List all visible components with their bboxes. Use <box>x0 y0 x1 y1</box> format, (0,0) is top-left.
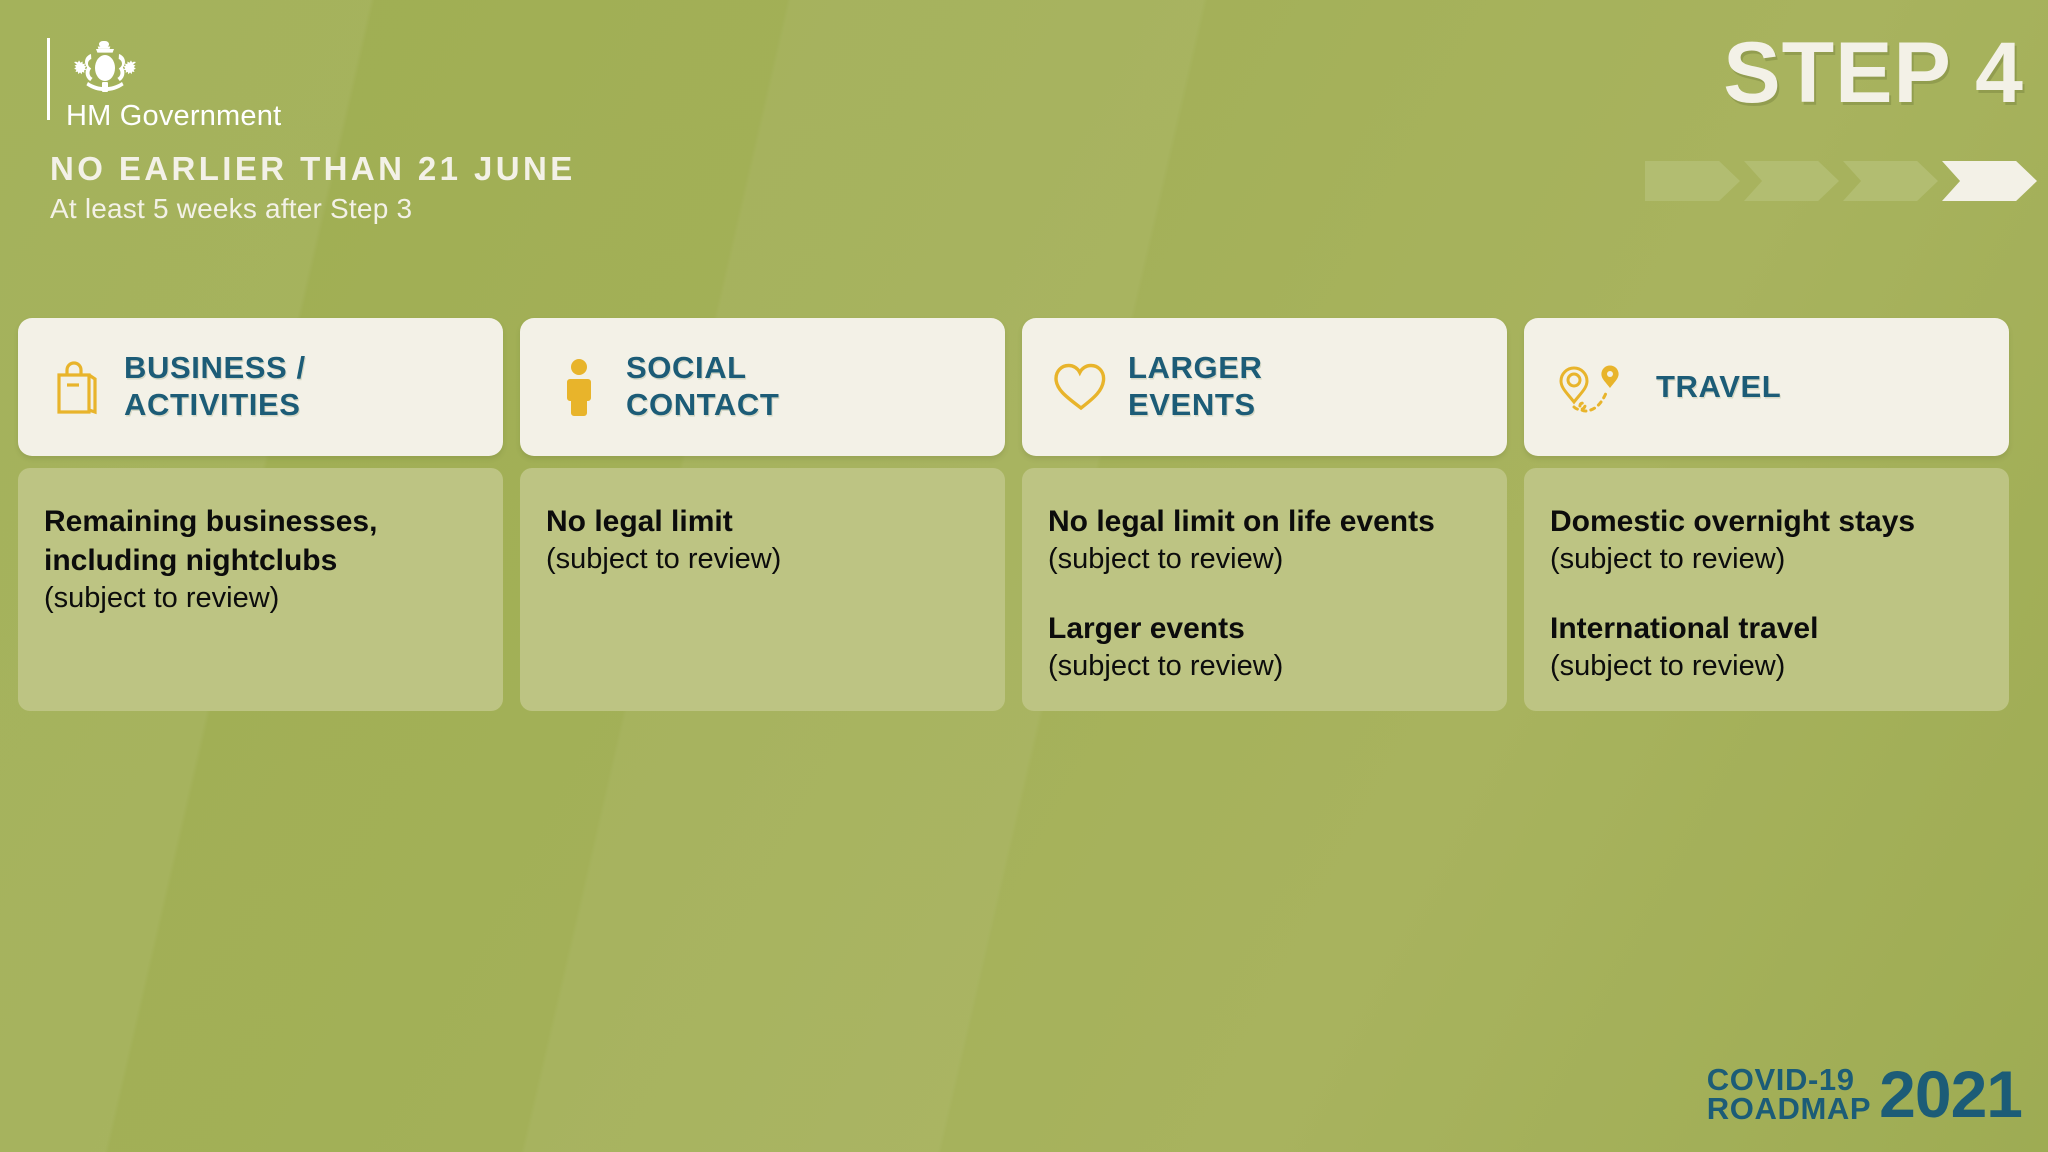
covid-label: COVID-19 <box>1707 1065 1855 1095</box>
column-body-social-contact: No legal limit (subject to review) <box>520 468 1005 711</box>
entry-title: Domestic overnight stays <box>1550 502 1983 541</box>
column-title-travel: TRAVEL <box>1656 369 1781 406</box>
column-title-line1: LARGER <box>1128 350 1263 387</box>
entry-note: (subject to review) <box>1048 541 1481 579</box>
entry-title: Remaining businesses, including nightclu… <box>44 502 477 580</box>
list-item: No legal limit on life events (subject t… <box>1048 502 1481 579</box>
list-item: Domestic overnight stays (subject to rev… <box>1550 502 1983 579</box>
chevron-step-2 <box>1744 161 1839 201</box>
column-header-social-contact: SOCIAL CONTACT <box>520 318 1005 456</box>
map-pins-route-icon <box>1550 357 1642 417</box>
list-item: Remaining businesses, including nightclu… <box>44 502 477 618</box>
entry-title: No legal limit on life events <box>1048 502 1481 541</box>
logo-divider-rule <box>47 38 50 120</box>
entry-title: No legal limit <box>546 502 979 541</box>
column-business-activities: BUSINESS / ACTIVITIES Remaining business… <box>18 318 503 711</box>
person-icon <box>546 358 612 416</box>
column-social-contact: SOCIAL CONTACT No legal limit (subject t… <box>520 318 1005 711</box>
column-larger-events: LARGER EVENTS No legal limit on life eve… <box>1022 318 1507 711</box>
date-subheading: At least 5 weeks after Step 3 <box>50 193 412 225</box>
entry-note: (subject to review) <box>546 541 979 579</box>
entry-note: (subject to review) <box>1048 648 1481 686</box>
column-title-line2: EVENTS <box>1128 387 1263 424</box>
chevron-step-1 <box>1645 161 1740 201</box>
step-badge: STEP 4 <box>1723 30 2024 116</box>
column-title-line2: CONTACT <box>626 387 779 424</box>
shopping-bag-icon <box>44 359 110 415</box>
column-title-line1: BUSINESS / <box>124 350 306 387</box>
hm-government-logo: HM Government <box>47 38 281 131</box>
column-title-social-contact: SOCIAL CONTACT <box>626 350 779 423</box>
roadmap-slide: HM Government NO EARLIER THAN 21 JUNE At… <box>0 0 2048 1152</box>
royal-coat-of-arms-icon <box>66 38 281 96</box>
column-header-larger-events: LARGER EVENTS <box>1022 318 1507 456</box>
entry-note: (subject to review) <box>44 580 477 618</box>
column-title-line2: ACTIVITIES <box>124 387 306 424</box>
date-heading: NO EARLIER THAN 21 JUNE <box>50 150 576 188</box>
entry-note: (subject to review) <box>1550 648 1983 686</box>
chevron-step-3 <box>1843 161 1938 201</box>
entry-title: International travel <box>1550 609 1983 648</box>
list-item: No legal limit (subject to review) <box>546 502 979 579</box>
list-item: Larger events (subject to review) <box>1048 609 1481 686</box>
year-label: 2021 <box>1879 1067 2022 1121</box>
category-columns: BUSINESS / ACTIVITIES Remaining business… <box>18 318 2030 711</box>
column-header-travel: TRAVEL <box>1524 318 2009 456</box>
column-header-business-activities: BUSINESS / ACTIVITIES <box>18 318 503 456</box>
column-body-travel: Domestic overnight stays (subject to rev… <box>1524 468 2009 711</box>
covid-roadmap-logo: COVID-19 ROADMAP 2021 <box>1707 1065 2022 1125</box>
step-progress-chevrons <box>1645 161 2037 201</box>
column-travel: TRAVEL Domestic overnight stays (subject… <box>1524 318 2009 711</box>
chevron-step-4-active <box>1942 161 2037 201</box>
list-item: International travel (subject to review) <box>1550 609 1983 686</box>
entry-title: Larger events <box>1048 609 1481 648</box>
roadmap-label: ROADMAP <box>1707 1094 1871 1124</box>
column-title-larger-events: LARGER EVENTS <box>1128 350 1263 423</box>
organisation-name: HM Government <box>66 102 281 131</box>
column-body-larger-events: No legal limit on life events (subject t… <box>1022 468 1507 711</box>
heart-icon <box>1048 361 1114 413</box>
entry-note: (subject to review) <box>1550 541 1983 579</box>
column-title-business-activities: BUSINESS / ACTIVITIES <box>124 350 306 423</box>
column-title-line1: TRAVEL <box>1656 369 1781 406</box>
column-body-business-activities: Remaining businesses, including nightclu… <box>18 468 503 711</box>
column-title-line1: SOCIAL <box>626 350 779 387</box>
